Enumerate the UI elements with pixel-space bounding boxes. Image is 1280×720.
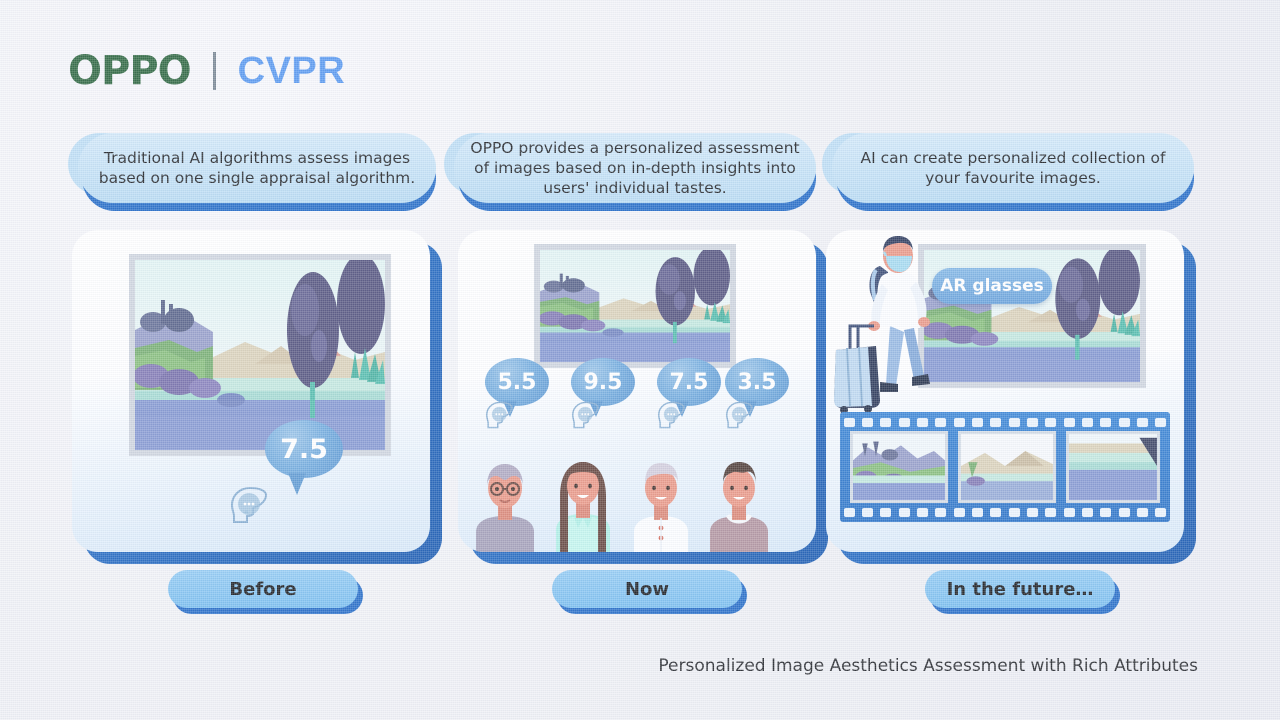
film-strip bbox=[840, 412, 1170, 522]
avatar-svg bbox=[626, 456, 696, 552]
profile-head-icon bbox=[655, 398, 689, 437]
sprocket-hole bbox=[990, 508, 1001, 517]
sprocket-hole bbox=[899, 418, 910, 427]
traveler-svg bbox=[828, 234, 948, 414]
slide-canvas: OPPO CVPR Traditional AI algorithms asse… bbox=[0, 0, 1280, 720]
landscape-svg bbox=[540, 250, 730, 362]
film-frame-3 bbox=[1066, 431, 1160, 503]
cvpr-logo: CVPR bbox=[238, 50, 346, 93]
callout-body: OPPO provides a personalized assessment … bbox=[454, 133, 816, 203]
callout-bubble-2: OPPO provides a personalized assessment … bbox=[444, 133, 816, 215]
sprocket-hole bbox=[1100, 508, 1111, 517]
oppo-logo: OPPO bbox=[68, 48, 191, 94]
pill-body: Before bbox=[168, 570, 358, 608]
sprocket-hole bbox=[1082, 508, 1093, 517]
sprocket-hole bbox=[954, 418, 965, 427]
film-thumb-svg bbox=[853, 434, 945, 500]
sprocket-hole bbox=[1119, 418, 1130, 427]
sprocket-hole bbox=[1009, 418, 1020, 427]
sprocket-hole bbox=[1027, 508, 1038, 517]
head-icon-svg bbox=[655, 398, 689, 432]
sprocket-hole bbox=[1100, 418, 1111, 427]
pill-label: Before bbox=[229, 579, 296, 600]
sprocket-hole bbox=[917, 418, 928, 427]
pill-body: Now bbox=[552, 570, 742, 608]
pill-body: In the future… bbox=[925, 570, 1115, 608]
avatar-svg bbox=[470, 456, 540, 552]
sprocket-hole bbox=[1064, 418, 1075, 427]
landscape-illustration bbox=[540, 250, 730, 362]
panel-before: 7.5 bbox=[72, 230, 430, 552]
sprocket-hole bbox=[880, 508, 891, 517]
callout-bubble-3: AI can create personalized collection of… bbox=[822, 133, 1194, 215]
sprocket-hole bbox=[862, 418, 873, 427]
callout-bubble-1: Traditional AI algorithms assess images … bbox=[68, 133, 436, 215]
score-value: 7.5 bbox=[670, 370, 709, 395]
callout-text: OPPO provides a personalized assessment … bbox=[470, 138, 800, 198]
sprocket-hole bbox=[880, 418, 891, 427]
sprocket-hole bbox=[899, 508, 910, 517]
sprocket-hole bbox=[972, 418, 983, 427]
photo-frame bbox=[129, 254, 391, 456]
label-pill-before: Before bbox=[168, 570, 358, 614]
callout-text: AI can create personalized collection of… bbox=[848, 148, 1178, 188]
traveler-with-suitcase bbox=[828, 234, 948, 414]
avatar-older-man-white-hair bbox=[626, 456, 696, 552]
avatar-elderly-woman-with-glasses bbox=[470, 456, 540, 552]
sprocket-hole bbox=[935, 508, 946, 517]
brand-header: OPPO CVPR bbox=[68, 48, 345, 94]
score-value: 3.5 bbox=[738, 370, 777, 395]
pill-label: In the future… bbox=[947, 579, 1094, 600]
sprocket-hole bbox=[1155, 508, 1166, 517]
sprocket-hole bbox=[972, 508, 983, 517]
sprocket-hole bbox=[1082, 418, 1093, 427]
avatar-svg bbox=[548, 456, 618, 552]
score-value: 7.5 bbox=[280, 434, 328, 465]
callout-body: Traditional AI algorithms assess images … bbox=[78, 133, 436, 203]
panel-card: 5.5 9.5 7.5 3.5 bbox=[458, 230, 816, 552]
sprocket-hole bbox=[1155, 418, 1166, 427]
avatar-young-woman-long-hair bbox=[548, 456, 618, 552]
ar-glasses-label: AR glasses bbox=[932, 268, 1052, 304]
sprocket-row-bottom bbox=[840, 506, 1170, 518]
landscape-svg bbox=[135, 260, 385, 450]
photo-frame bbox=[534, 244, 736, 368]
logo-divider bbox=[213, 52, 216, 90]
score-value: 5.5 bbox=[498, 370, 537, 395]
slide-caption: Personalized Image Aesthetics Assessment… bbox=[658, 656, 1198, 676]
profile-head-icon bbox=[483, 398, 517, 437]
callout-text: Traditional AI algorithms assess images … bbox=[94, 148, 420, 188]
profile-head-icon bbox=[723, 398, 757, 437]
sprocket-row-top bbox=[840, 416, 1170, 428]
film-frame-1 bbox=[850, 431, 948, 503]
label-pill-now: Now bbox=[552, 570, 742, 614]
sprocket-hole bbox=[1119, 508, 1130, 517]
sprocket-hole bbox=[1064, 508, 1075, 517]
panel-card: AR glasses bbox=[826, 230, 1184, 552]
avatar-svg bbox=[704, 456, 774, 552]
profile-head-icon bbox=[569, 398, 603, 437]
sprocket-hole bbox=[1045, 418, 1056, 427]
sprocket-hole bbox=[954, 508, 965, 517]
sprocket-hole bbox=[917, 508, 928, 517]
head-icon-svg bbox=[483, 398, 517, 432]
head-icon-svg bbox=[569, 398, 603, 432]
pill-label: Now bbox=[625, 579, 669, 600]
score-bubble-tail bbox=[288, 473, 306, 495]
landscape-illustration bbox=[135, 260, 385, 450]
sprocket-hole bbox=[1027, 418, 1038, 427]
ar-glasses-text: AR glasses bbox=[940, 276, 1044, 296]
panel-now: 5.5 9.5 7.5 3.5 bbox=[458, 230, 816, 552]
sprocket-hole bbox=[1137, 508, 1148, 517]
head-icon-svg bbox=[723, 398, 757, 432]
head-icon-svg bbox=[227, 482, 273, 528]
profile-head-icon bbox=[227, 482, 273, 528]
sprocket-hole bbox=[1045, 508, 1056, 517]
sprocket-hole bbox=[844, 418, 855, 427]
panel-future: AR glasses bbox=[826, 230, 1184, 552]
sprocket-hole bbox=[990, 418, 1001, 427]
sprocket-hole bbox=[844, 508, 855, 517]
callout-body: AI can create personalized collection of… bbox=[832, 133, 1194, 203]
score-bubble: 7.5 bbox=[265, 420, 343, 478]
sprocket-hole bbox=[862, 508, 873, 517]
film-thumb-svg bbox=[961, 434, 1053, 500]
label-pill-future: In the future… bbox=[925, 570, 1115, 614]
panel-card: 7.5 bbox=[72, 230, 430, 552]
sprocket-hole bbox=[935, 418, 946, 427]
score-value: 9.5 bbox=[584, 370, 623, 395]
photo-frame bbox=[918, 244, 1146, 388]
sprocket-hole bbox=[1009, 508, 1020, 517]
avatar-young-man-curly-hair bbox=[704, 456, 774, 552]
sprocket-hole bbox=[1137, 418, 1148, 427]
film-frame-2 bbox=[958, 431, 1056, 503]
film-thumb-svg bbox=[1069, 434, 1157, 500]
